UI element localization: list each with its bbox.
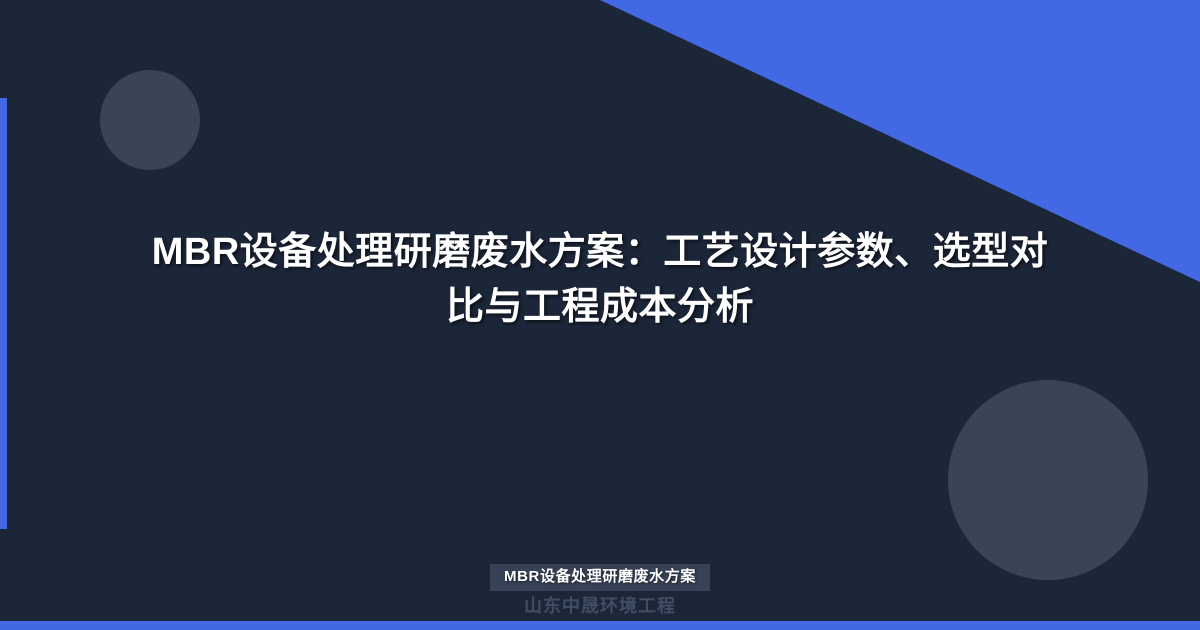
topic-badge: MBR设备处理研磨废水方案 bbox=[490, 564, 710, 591]
bottom-accent-bar bbox=[0, 621, 1200, 630]
footer: MBR设备处理研磨废水方案 山东中晟环境工程 bbox=[0, 564, 1200, 618]
headline-container: MBR设备处理研磨废水方案：工艺设计参数、选型对比与工程成本分析 bbox=[0, 0, 1200, 630]
poster-canvas: MBR设备处理研磨废水方案：工艺设计参数、选型对比与工程成本分析 MBR设备处理… bbox=[0, 0, 1200, 630]
page-title: MBR设备处理研磨废水方案：工艺设计参数、选型对比与工程成本分析 bbox=[150, 225, 1050, 335]
company-name: 山东中晟环境工程 bbox=[524, 596, 676, 618]
